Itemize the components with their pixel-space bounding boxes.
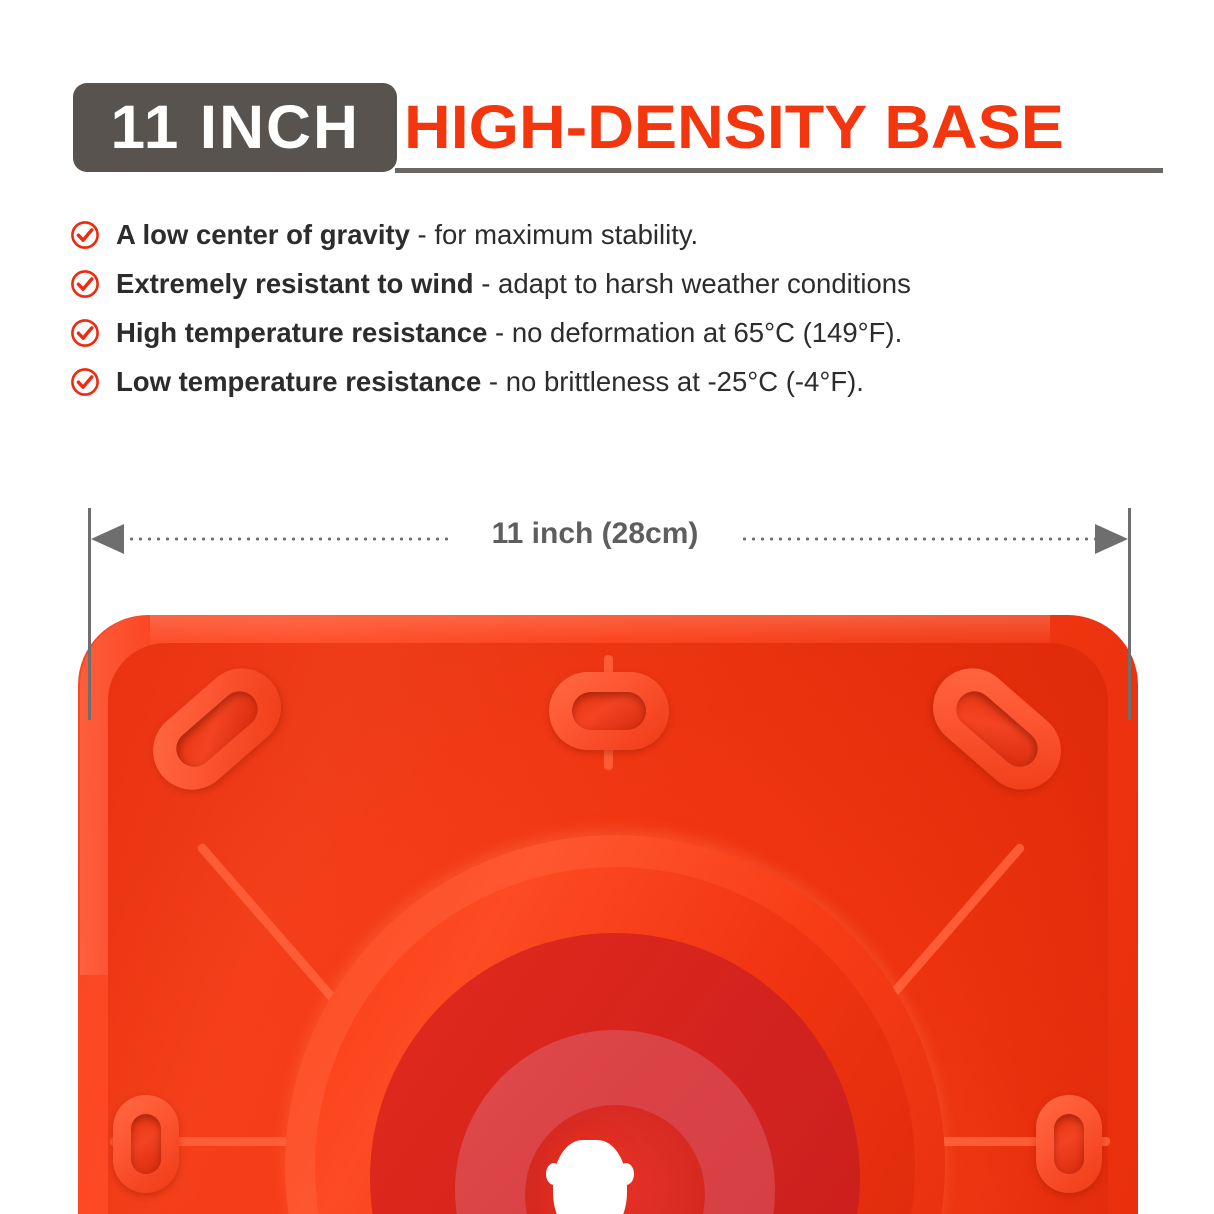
header: 11 INCH HIGH-DENSITY BASE	[0, 0, 1214, 190]
oval-slot-opening	[1054, 1114, 1084, 1174]
feature-item: Extremely resistant to wind - adapt to h…	[70, 259, 1170, 308]
feature-text: Extremely resistant to wind - adapt to h…	[116, 270, 911, 298]
page-title: HIGH-DENSITY BASE	[404, 83, 1064, 172]
dimension-label: 11 inch (28cm)	[455, 516, 735, 552]
center-hole	[553, 1140, 627, 1214]
dimension-dotted-line-left	[118, 537, 448, 541]
oval-slot-bottom-left	[113, 1095, 179, 1193]
feature-text-bold: A low center of gravity	[116, 219, 410, 250]
oval-slot-bottom-right	[1036, 1095, 1102, 1193]
feature-list: A low center of gravity - for maximum st…	[70, 210, 1170, 406]
check-circle-icon	[70, 220, 100, 250]
check-circle-icon	[70, 269, 100, 299]
feature-text-rest: - no deformation at 65°C (149°F).	[487, 317, 902, 348]
feature-text-rest: - adapt to harsh weather conditions	[474, 268, 911, 299]
dimension-arrow-right-icon	[1095, 524, 1128, 554]
dimension-arrow-left-icon	[91, 524, 124, 554]
feature-text-bold: High temperature resistance	[116, 317, 487, 348]
feature-text: A low center of gravity - for maximum st…	[116, 221, 698, 249]
center-hole-notch-right	[618, 1163, 634, 1185]
feature-text: High temperature resistance - no deforma…	[116, 319, 902, 347]
feature-text-rest: - no brittleness at -25°C (-4°F).	[481, 366, 864, 397]
size-badge-label: 11 INCH	[110, 97, 359, 158]
feature-item: A low center of gravity - for maximum st…	[70, 210, 1170, 259]
oval-slot-top	[549, 672, 669, 750]
oval-slot-opening	[572, 692, 646, 730]
feature-item: High temperature resistance - no deforma…	[70, 308, 1170, 357]
size-badge: 11 INCH	[73, 83, 397, 172]
feature-item: Low temperature resistance - no brittlen…	[70, 357, 1170, 406]
check-circle-icon	[70, 318, 100, 348]
check-circle-icon	[70, 367, 100, 397]
oval-slot-opening	[131, 1114, 161, 1174]
feature-text: Low temperature resistance - no brittlen…	[116, 368, 864, 396]
feature-text-rest: - for maximum stability.	[410, 219, 698, 250]
center-hole-notch-left	[546, 1163, 562, 1185]
dimension-dotted-line-right	[740, 537, 1110, 541]
product-image	[0, 615, 1214, 1214]
feature-text-bold: Extremely resistant to wind	[116, 268, 474, 299]
feature-text-bold: Low temperature resistance	[116, 366, 481, 397]
